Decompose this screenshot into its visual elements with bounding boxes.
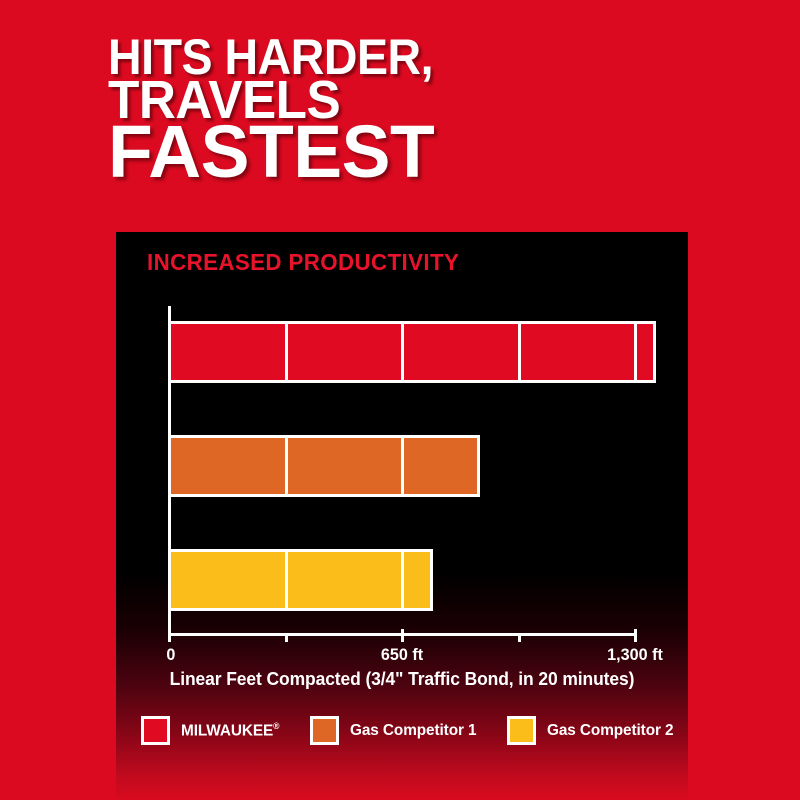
legend-item: Gas Competitor 1	[310, 716, 482, 745]
chart-bar-segment	[288, 438, 405, 494]
chart-bar-segment	[171, 324, 288, 380]
chart-panel: INCREASED PRODUCTIVITY 0650 ft1,300 ft L…	[116, 232, 688, 800]
x-axis-tick-label: 650 ft	[381, 645, 423, 665]
legend-label: Gas Competitor 1	[350, 722, 476, 740]
legend-swatch-icon	[507, 716, 536, 745]
chart-bar-segment	[171, 438, 288, 494]
chart-bar-segment	[288, 324, 405, 380]
legend-label: MILWAUKEE®	[181, 721, 279, 740]
chart-bar-segment	[404, 438, 477, 494]
page-title: HITS HARDER, TRAVELS FASTEST	[108, 34, 708, 186]
chart-bar-segment	[171, 552, 288, 608]
legend-swatch-icon	[141, 716, 170, 745]
chart-bar-segment	[404, 552, 430, 608]
legend-label: Gas Competitor 2	[547, 722, 673, 740]
x-axis-tick	[285, 633, 288, 642]
chart-bar-segment	[404, 324, 521, 380]
chart-bar-segment	[637, 324, 653, 380]
chart-bar	[168, 435, 480, 497]
ad-canvas: HITS HARDER, TRAVELS FASTEST INCREASED P…	[0, 0, 800, 800]
chart-bar-segment	[521, 324, 638, 380]
chart-bar	[168, 321, 656, 383]
x-axis-tick	[168, 629, 171, 642]
x-axis-caption: Linear Feet Compacted (3/4" Traffic Bond…	[170, 669, 635, 690]
plot-area: 0650 ft1,300 ft	[116, 232, 688, 800]
chart-bar	[168, 549, 433, 611]
x-axis-tick-label: 0	[166, 645, 175, 665]
registered-trademark-icon: ®	[273, 721, 279, 731]
chart-legend: MILWAUKEE®Gas Competitor 1Gas Competitor…	[132, 716, 688, 745]
headline-line-3: FASTEST	[108, 118, 702, 186]
legend-swatch-icon	[310, 716, 339, 745]
legend-item: MILWAUKEE®	[141, 716, 284, 745]
x-axis-tick	[401, 629, 404, 642]
x-axis-tick-label: 1,300 ft	[607, 645, 663, 665]
x-axis-tick	[634, 629, 637, 642]
legend-item: Gas Competitor 2	[507, 716, 679, 745]
chart-bar-segment	[288, 552, 405, 608]
x-axis-tick	[518, 633, 521, 642]
